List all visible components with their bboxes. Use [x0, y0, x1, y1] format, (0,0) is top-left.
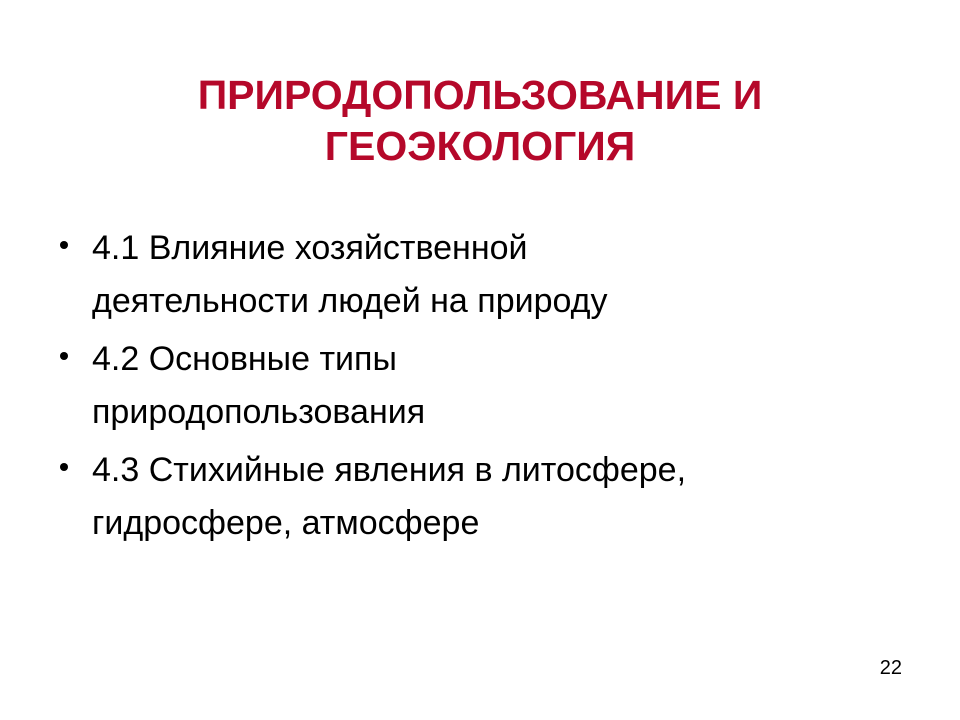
slide-body-list: 4.1 Влияние хозяйственной деятельности л… [52, 222, 932, 555]
bullet-dot-icon [60, 352, 68, 360]
list-item-text: 4.2 Основные типы природопользования [92, 333, 932, 439]
list-item: 4.2 Основные типы природопользования [52, 333, 932, 439]
slide-title-line-2: ГЕОЭКОЛОГИЯ [0, 121, 960, 172]
list-item: 4.1 Влияние хозяйственной деятельности л… [52, 222, 932, 328]
bullet-dot-icon [60, 463, 68, 471]
list-item-text: 4.1 Влияние хозяйственной деятельности л… [92, 222, 932, 328]
list-item-text: 4.3 Стихийные явления в литосфере, гидро… [92, 444, 932, 550]
slide-title-line-1: ПРИРОДОПОЛЬЗОВАНИЕ И [0, 70, 960, 121]
bullet-dot-icon [60, 241, 68, 249]
page-number: 22 [880, 658, 902, 678]
list-item: 4.3 Стихийные явления в литосфере, гидро… [52, 444, 932, 550]
slide-title: ПРИРОДОПОЛЬЗОВАНИЕ И ГЕОЭКОЛОГИЯ [0, 70, 960, 172]
presentation-slide: ПРИРОДОПОЛЬЗОВАНИЕ И ГЕОЭКОЛОГИЯ 4.1 Вли… [0, 0, 960, 720]
